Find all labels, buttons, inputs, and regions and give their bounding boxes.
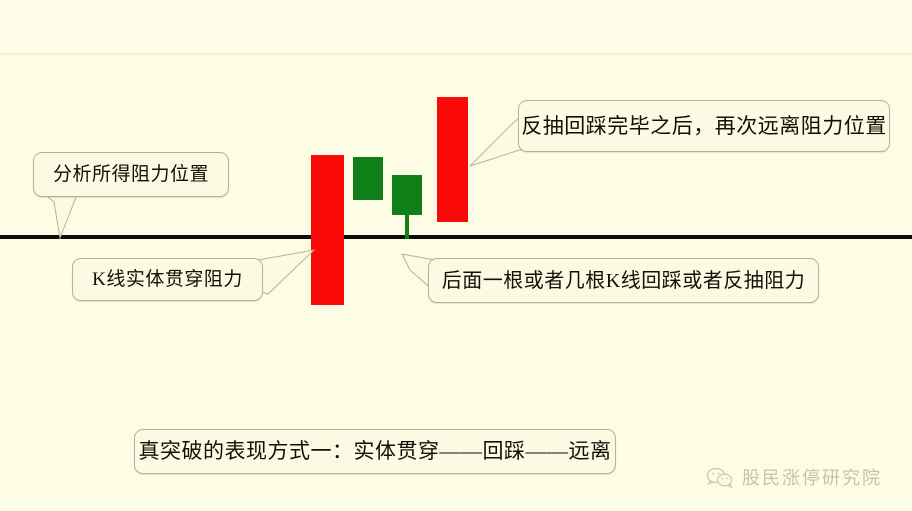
slide-header-band bbox=[0, 0, 912, 54]
callout-breakthrough[interactable]: 反抽回踩完毕之后，再次远离阻力位置 bbox=[518, 100, 890, 152]
callout-resistance-text: 分析所得阻力位置 bbox=[53, 165, 209, 184]
watermark-label: 股民涨停研究院 bbox=[742, 464, 882, 490]
slide-canvas: 分析所得阻力位置 反抽回踩完毕之后，再次远离阻力位置 K线实体贯穿阻力 后面一根… bbox=[0, 0, 912, 511]
candle-1-body bbox=[311, 155, 344, 305]
callout-penetrate[interactable]: K线实体贯穿阻力 bbox=[72, 258, 263, 301]
callout-summary-text: 真突破的表现方式一：实体贯穿——回踩——远离 bbox=[139, 441, 612, 462]
watermark: 股民涨停研究院 bbox=[707, 464, 882, 490]
callout-pullback-text: 后面一根或者几根K线回踩或者反抽阻力 bbox=[442, 271, 805, 291]
candle-3-body bbox=[392, 175, 422, 215]
candle-3-lower-wick bbox=[405, 213, 409, 239]
candle-1-bullish bbox=[311, 155, 344, 305]
callout-summary[interactable]: 真突破的表现方式一：实体贯穿——回踩——远离 bbox=[134, 429, 616, 474]
candle-3-bearish bbox=[392, 175, 422, 215]
resistance-line bbox=[0, 235, 912, 239]
callout-resistance[interactable]: 分析所得阻力位置 bbox=[33, 152, 229, 197]
candle-2-body bbox=[353, 157, 383, 200]
callout-pullback[interactable]: 后面一根或者几根K线回踩或者反抽阻力 bbox=[428, 258, 819, 303]
candle-2-bearish bbox=[353, 157, 383, 200]
callout-breakthrough-text: 反抽回踩完毕之后，再次远离阻力位置 bbox=[521, 116, 887, 137]
candle-4-bullish bbox=[437, 97, 468, 222]
candle-4-body bbox=[437, 97, 468, 222]
wechat-icon bbox=[707, 467, 733, 488]
callout-penetrate-text: K线实体贯穿阻力 bbox=[92, 270, 243, 289]
